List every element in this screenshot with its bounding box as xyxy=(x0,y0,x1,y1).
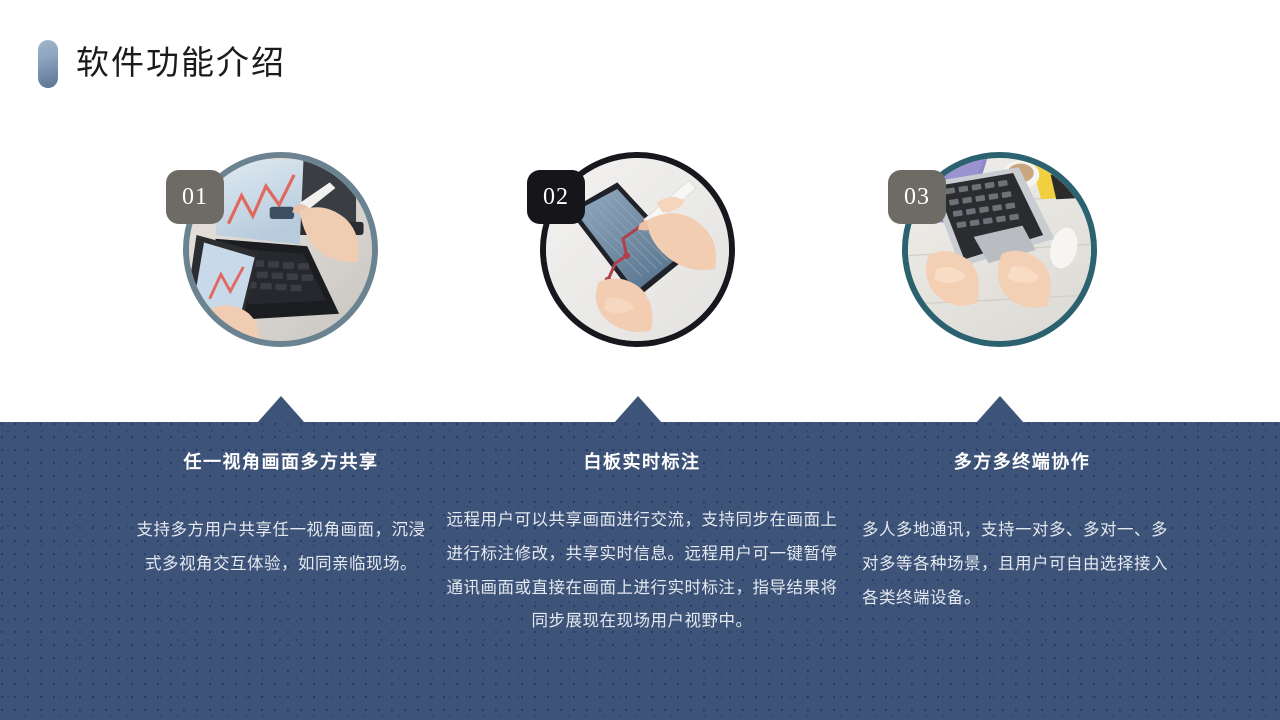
feature-column-1: 任一视角画面多方共享 支持多方用户共享任一视角画面，沉浸式多视角交互体验，如同亲… xyxy=(131,448,431,582)
feature-title-1: 任一视角画面多方共享 xyxy=(131,448,431,474)
slide-header: 软件功能介绍 xyxy=(38,40,286,88)
feature-body-3: 多人多地通讯，支持一对多、多对一、多对多等各种场景，且用户可自由选择接入各类终端… xyxy=(862,514,1182,615)
feature-body-1: 支持多方用户共享任一视角画面，沉浸式多视角交互体验，如同亲临现场。 xyxy=(131,514,431,582)
panel-notch-1 xyxy=(257,396,305,423)
feature-body-2: 远程用户可以共享画面进行交流，支持同步在画面上进行标注修改，共享实时信息。远程用… xyxy=(442,504,842,639)
feature-badge-2: 02 xyxy=(527,170,585,224)
page-title: 软件功能介绍 xyxy=(76,48,286,81)
feature-badge-3: 03 xyxy=(888,170,946,224)
slide-root: 软件功能介绍 xyxy=(0,0,1280,720)
feature-badge-1: 01 xyxy=(166,170,224,224)
feature-title-2: 白板实时标注 xyxy=(442,448,842,474)
panel-notch-2 xyxy=(614,396,662,423)
feature-column-2: 白板实时标注 远程用户可以共享画面进行交流，支持同步在画面上进行标注修改，共享实… xyxy=(442,448,842,639)
feature-column-3: 多方多终端协作 多人多地通讯，支持一对多、多对一、多对多等各种场景，且用户可自由… xyxy=(862,448,1182,615)
title-bullet-icon xyxy=(38,40,58,88)
panel-notch-3 xyxy=(976,396,1024,423)
feature-title-3: 多方多终端协作 xyxy=(862,448,1182,474)
